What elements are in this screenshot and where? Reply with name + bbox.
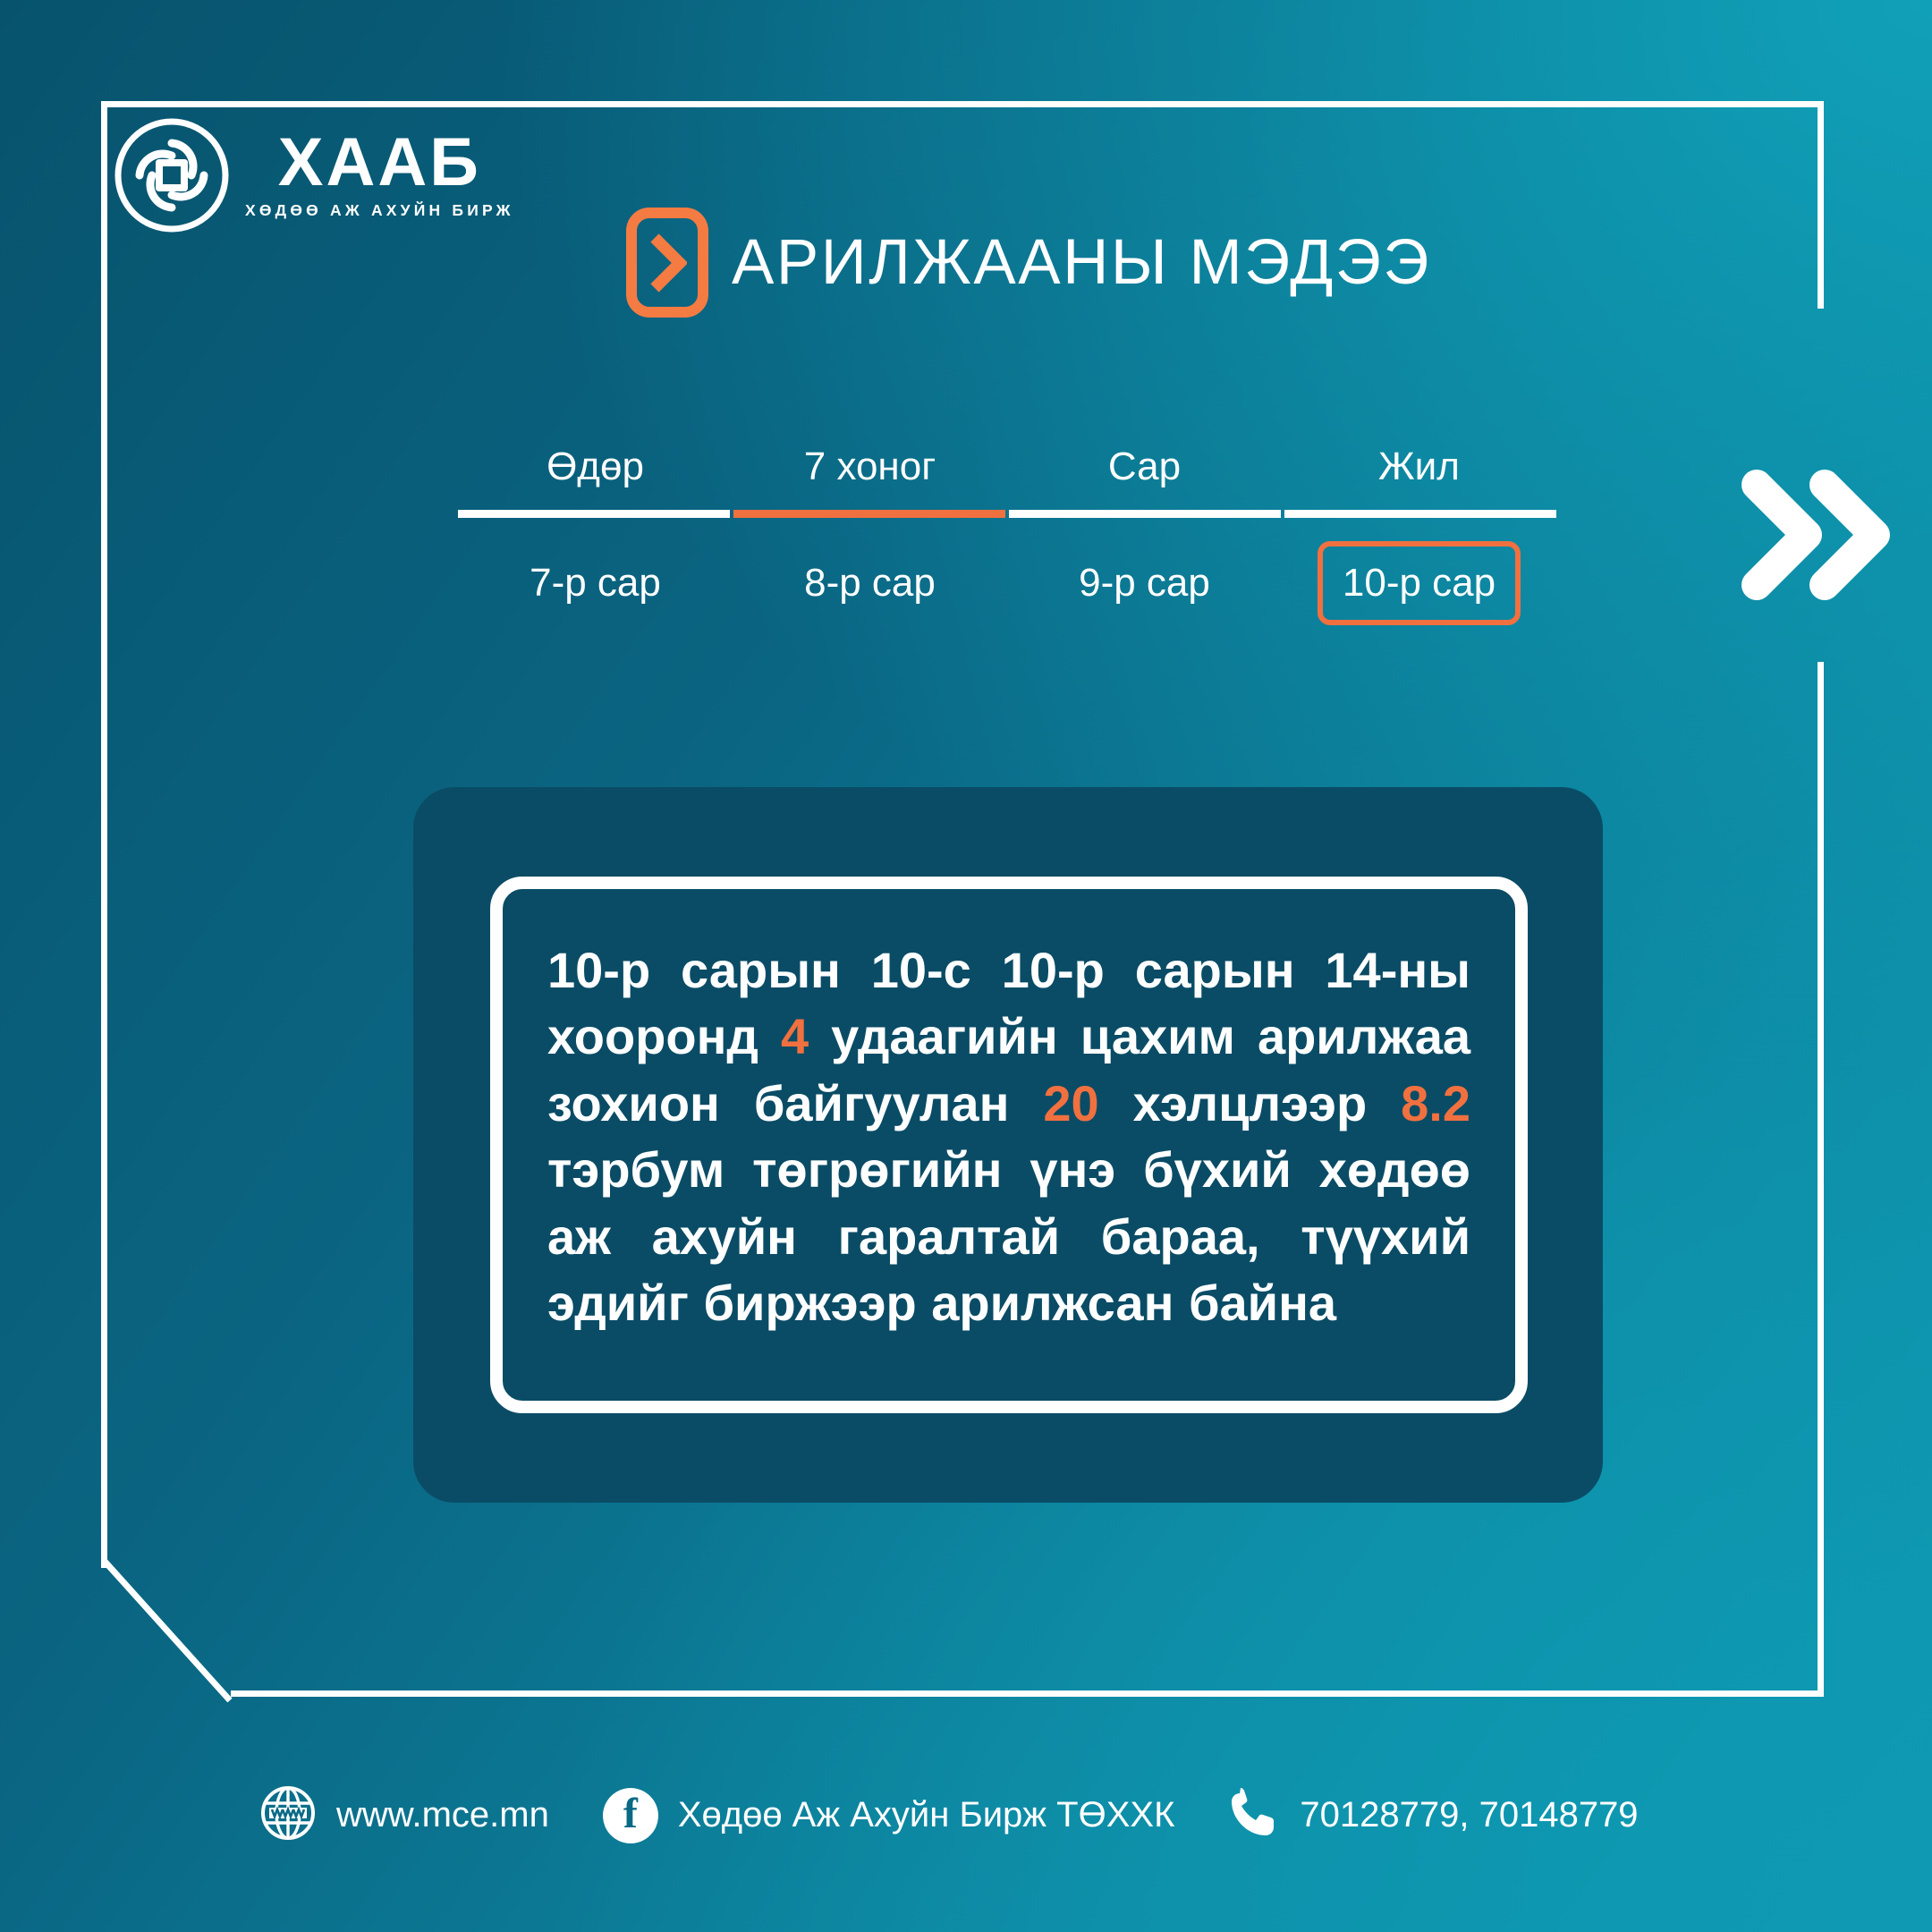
frame-border-top <box>101 101 1824 107</box>
tab-jil[interactable]: Жил <box>1282 447 1556 510</box>
poster-canvas: ХААБ ХӨДӨӨ АЖ АХУЙН БИРЖ АРИЛЖААНЫ МЭДЭЭ… <box>0 0 1932 1932</box>
tab-indicator-jil[interactable] <box>1284 510 1556 518</box>
chevron-right-icon <box>626 208 708 318</box>
footer-website-label: www.mce.mn <box>336 1795 549 1835</box>
frame-border-left <box>101 101 107 1568</box>
news-seg-3-highlight: 20 <box>1043 1075 1098 1131</box>
frame-border-diagonal <box>102 1559 233 1703</box>
tab-indicator-sar[interactable] <box>1009 510 1281 518</box>
facebook-icon: f <box>603 1788 658 1843</box>
double-chevron-right-icon <box>1726 447 1902 627</box>
frame-border-right-lower <box>1818 662 1824 1697</box>
month-cell-9: 9-р сар <box>1007 541 1282 625</box>
month-chip-7[interactable]: 7-р сар <box>504 541 686 625</box>
brand-tagline: ХӨДӨӨ АЖ АХУЙН БИРЖ <box>245 201 514 220</box>
footer-website[interactable]: www.mce.mn <box>259 1784 549 1846</box>
footer-facebook[interactable]: f Хөдөө Аж Ахуйн Бирж ТӨХХК <box>603 1788 1175 1843</box>
month-selector: 7-р сар 8-р сар 9-р сар 10-р сар <box>458 541 1556 625</box>
footer-facebook-label: Хөдөө Аж Ахуйн Бирж ТӨХХК <box>678 1795 1175 1835</box>
period-tabs: Өдөр 7 хоног Сар Жил <box>458 447 1556 518</box>
footer-contact-bar: www.mce.mn f Хөдөө Аж Ахуйн Бирж ТӨХХК 7… <box>259 1784 1639 1846</box>
footer-phone[interactable]: 70128779, 70148779 <box>1228 1787 1638 1843</box>
xaab-emblem-icon <box>114 118 229 233</box>
tab-indicator-7-honog[interactable] <box>733 510 1005 518</box>
phone-icon <box>1228 1787 1280 1843</box>
month-chip-8[interactable]: 8-р сар <box>779 541 961 625</box>
month-chip-9[interactable]: 9-р сар <box>1054 541 1235 625</box>
news-seg-4: хэлцлээр <box>1099 1075 1401 1131</box>
news-seg-1-highlight: 4 <box>781 1008 809 1064</box>
month-cell-8: 8-р сар <box>733 541 1007 625</box>
tab-7-honog[interactable]: 7 хоног <box>733 447 1007 510</box>
frame-border-right-upper <box>1818 101 1824 309</box>
brand-wordmark: ХААБ ХӨДӨӨ АЖ АХУЙН БИРЖ <box>245 131 514 220</box>
page-header: АРИЛЖААНЫ МЭДЭЭ <box>626 208 1431 318</box>
news-seg-6: тэрбум төгрөгийн үнэ бүхий хөдөө аж ахуй… <box>547 1141 1470 1331</box>
page-title: АРИЛЖААНЫ МЭДЭЭ <box>732 226 1431 299</box>
news-body: 10-р сарын 10-с 10-р сарын 14-ны хооронд… <box>547 937 1470 1337</box>
month-chip-10[interactable]: 10-р сар <box>1318 541 1521 625</box>
tab-indicator-oder[interactable] <box>458 510 730 518</box>
brand-logo: ХААБ ХӨДӨӨ АЖ АХУЙН БИРЖ <box>114 118 514 233</box>
footer-phone-label: 70128779, 70148779 <box>1300 1795 1638 1835</box>
globe-www-icon <box>259 1784 317 1846</box>
period-tab-indicators <box>458 510 1556 518</box>
frame-border-bottom <box>231 1690 1824 1697</box>
month-cell-10: 10-р сар <box>1282 541 1556 625</box>
news-seg-5-highlight: 8.2 <box>1401 1075 1470 1131</box>
month-cell-7: 7-р сар <box>458 541 733 625</box>
tab-sar[interactable]: Сар <box>1007 447 1282 510</box>
brand-name: ХААБ <box>278 131 481 195</box>
news-card-frame: 10-р сарын 10-с 10-р сарын 14-ны хооронд… <box>490 877 1528 1413</box>
tab-oder[interactable]: Өдөр <box>458 447 733 510</box>
period-tab-labels: Өдөр 7 хоног Сар Жил <box>458 447 1556 510</box>
